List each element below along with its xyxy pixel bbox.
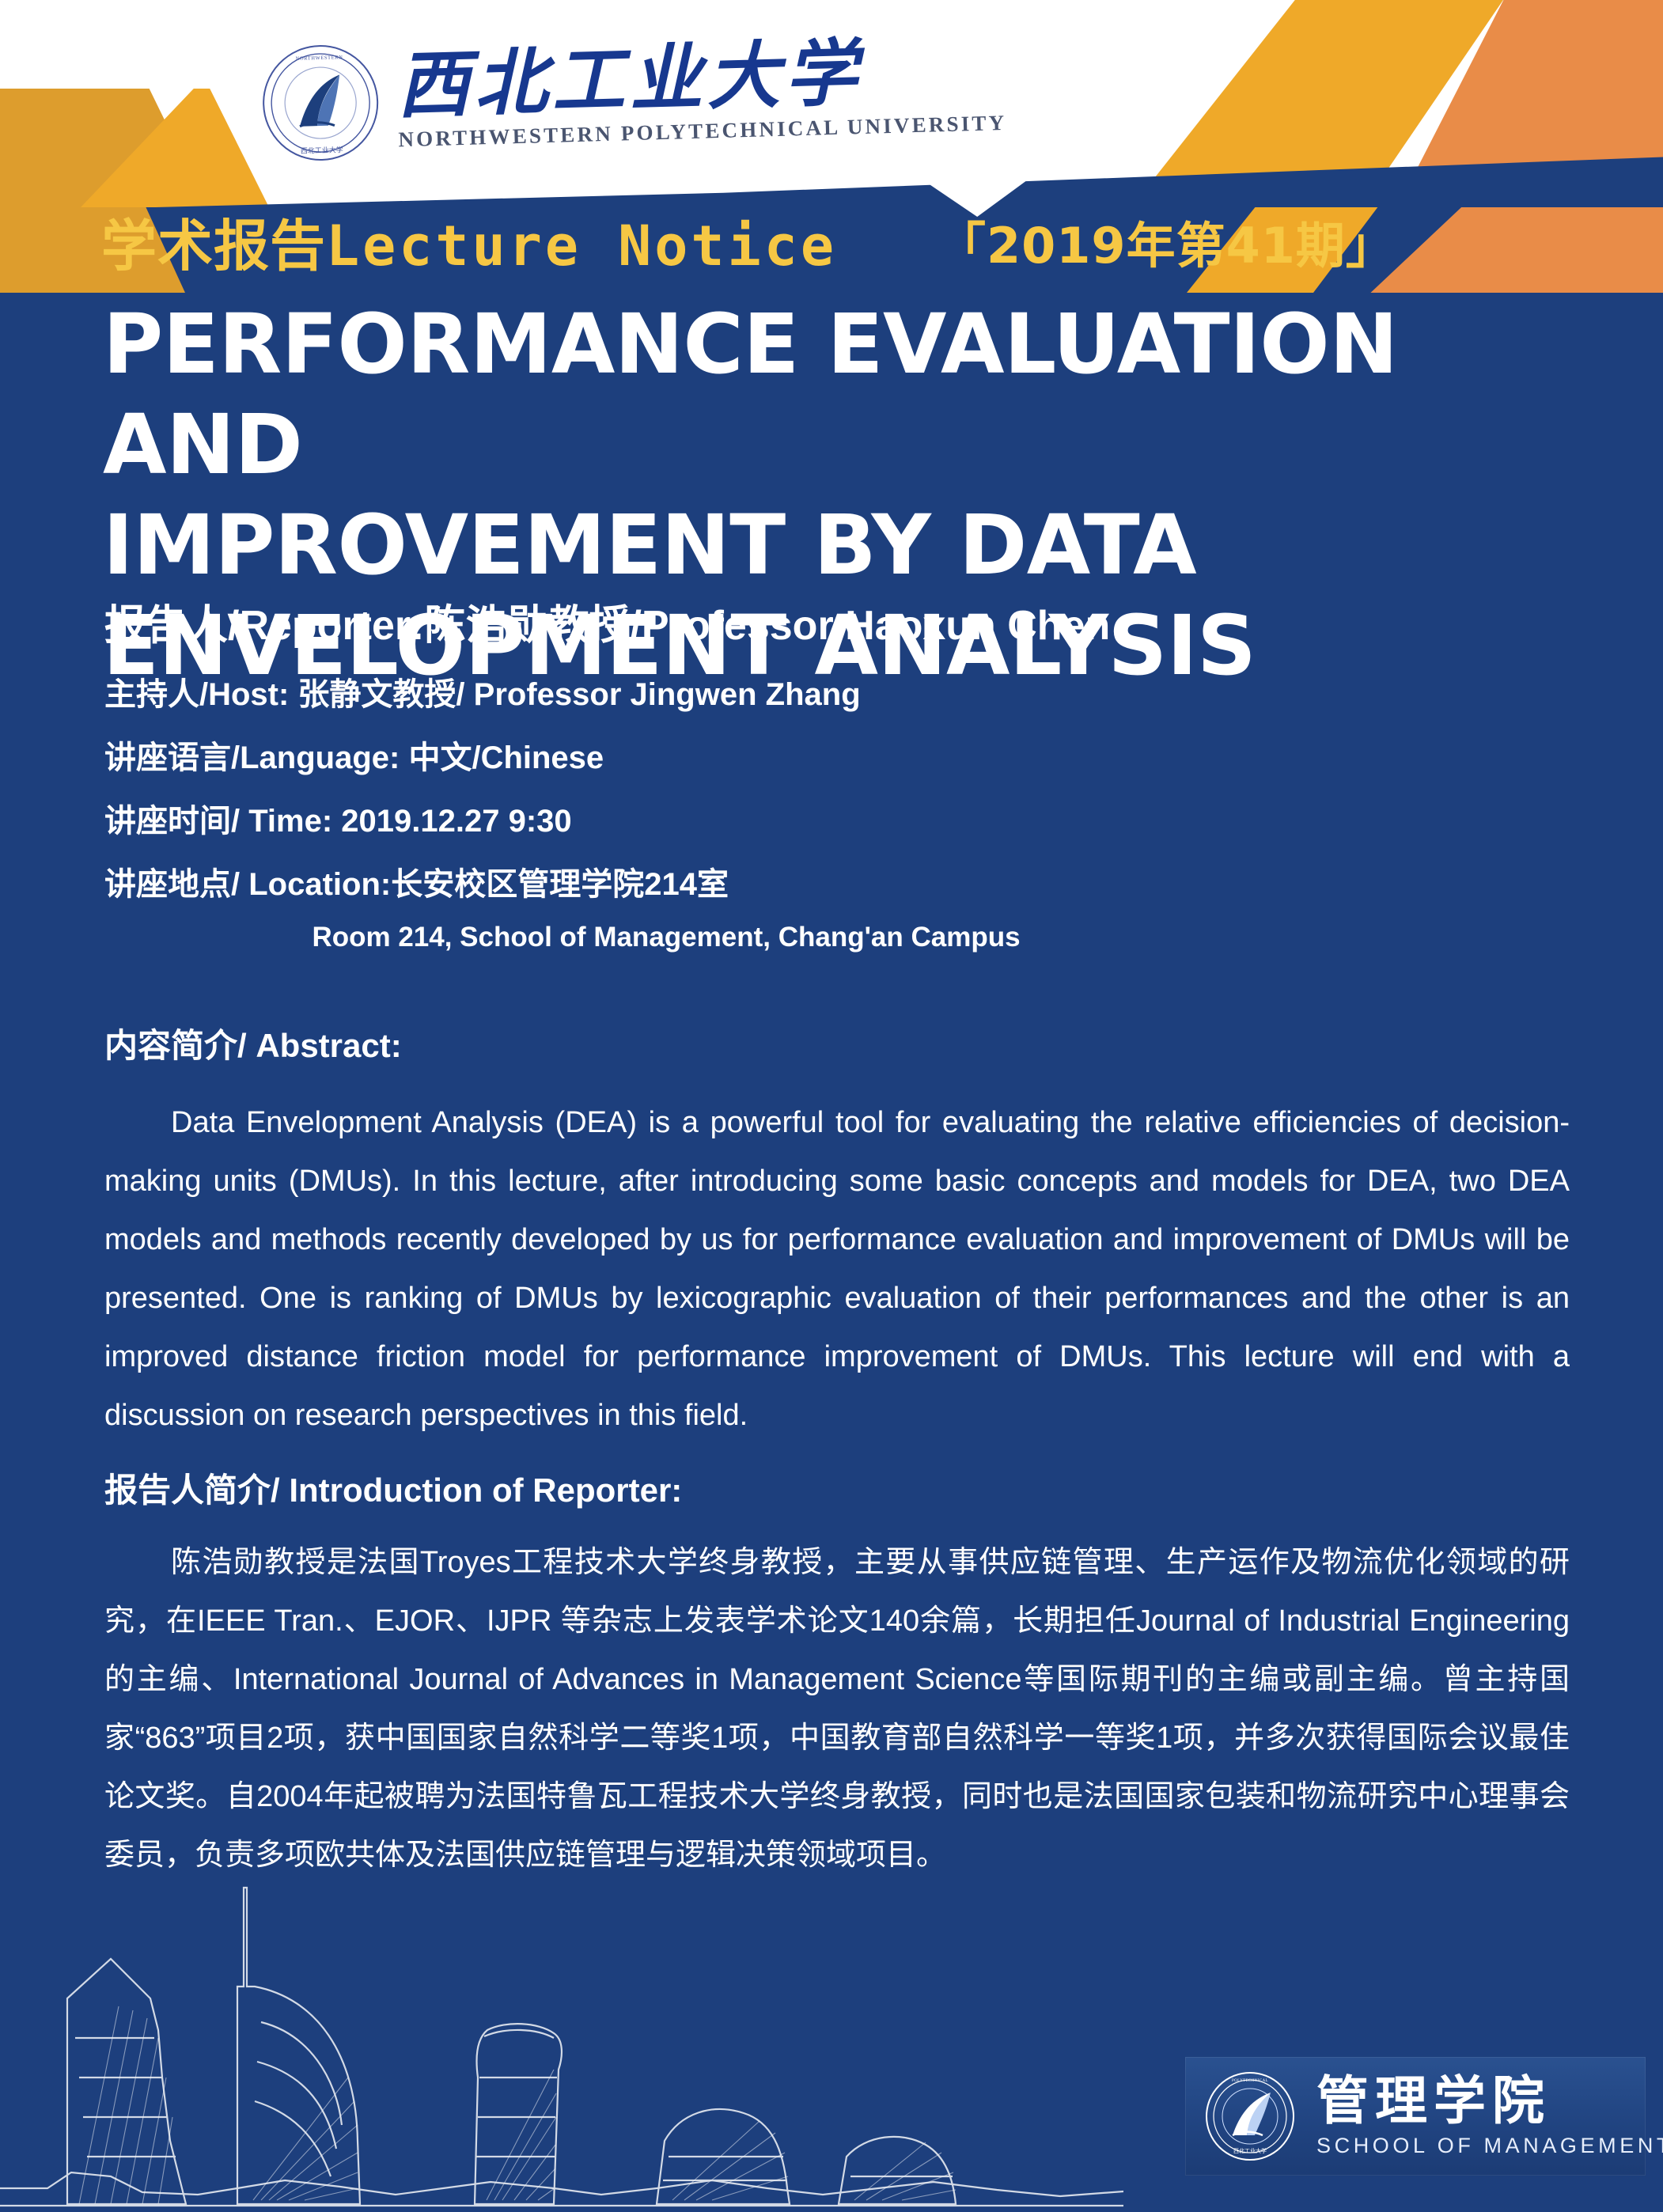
reporter-intro-heading: 报告人简介/ Introduction of Reporter: — [104, 1464, 682, 1512]
notice-label-zh: 学术报告 — [101, 214, 326, 278]
school-name-zh: 管理学院 — [1316, 2074, 1663, 2129]
notice-label-en: Lecture Notice — [326, 214, 837, 278]
abstract-heading: 内容简介/ Abstract: — [104, 1019, 402, 1067]
detail-reporter: 报告人/Reporter:陈浩勋教授/Professor Haoxun Chen — [104, 592, 1576, 651]
title-line-2: IMPROVEMENT BY DATA — [103, 495, 1574, 596]
detail-time: 讲座时间/ Time: 2019.12.27 9:30 — [104, 795, 1576, 841]
lecture-poster: 西北工业大学 NORTHWESTERN 西北工业大学 NORTHWESTERN … — [0, 0, 1663, 2212]
school-seal-icon: 西北工业大学 POLYTECHNICAL — [1204, 2070, 1296, 2162]
svg-text:西北工业大学: 西北工业大学 — [1233, 2147, 1267, 2154]
issue-badge: 「2019年第41期」 — [937, 206, 1396, 277]
school-of-management-logo: 西北工业大学 POLYTECHNICAL 管理学院 SCHOOL OF MANA… — [1185, 2057, 1646, 2176]
notice-label: 学术报告Lecture Notice — [101, 202, 837, 282]
detail-location-en: Room 214, School of Management, Chang'an… — [104, 922, 1228, 953]
detail-host: 主持人/Host: 张静文教授/ Professor Jingwen Zhang — [104, 669, 1576, 714]
city-skyline-illustration — [0, 1840, 1123, 2212]
university-logo-lockup: 西北工业大学 NORTHWESTERN 西北工业大学 NORTHWESTERN … — [259, 25, 1007, 164]
detail-language: 讲座语言/Language: 中文/Chinese — [104, 732, 1576, 778]
reporter-intro-body: 陈浩勋教授是法国Troyes工程技术大学终身教授，主要从事供应链管理、生产运作及… — [104, 1533, 1570, 1885]
detail-location: 讲座地点/ Location:长安校区管理学院214室 — [104, 858, 1576, 904]
title-line-1: PERFORMANCE EVALUATION AND — [103, 294, 1574, 495]
school-name-en: SCHOOL OF MANAGEMENT — [1316, 2134, 1663, 2158]
university-name-zh: 西北工业大学 — [396, 32, 1006, 122]
lecture-details: 报告人/Reporter:陈浩勋教授/Professor Haoxun Chen… — [104, 592, 1576, 953]
header-band: 西北工业大学 NORTHWESTERN 西北工业大学 NORTHWESTERN … — [0, 0, 1663, 207]
university-seal-icon: 西北工业大学 NORTHWESTERN — [259, 42, 381, 164]
svg-text:西北工业大学: 西北工业大学 — [301, 145, 343, 155]
svg-text:POLYTECHNICAL: POLYTECHNICAL — [1232, 2079, 1268, 2083]
abstract-body: Data Envelopment Analysis (DEA) is a pow… — [104, 1093, 1570, 1445]
svg-text:NORTHWESTERN: NORTHWESTERN — [296, 55, 343, 62]
notice-row: 学术报告Lecture Notice 「2019年第41期」 — [0, 198, 1663, 285]
